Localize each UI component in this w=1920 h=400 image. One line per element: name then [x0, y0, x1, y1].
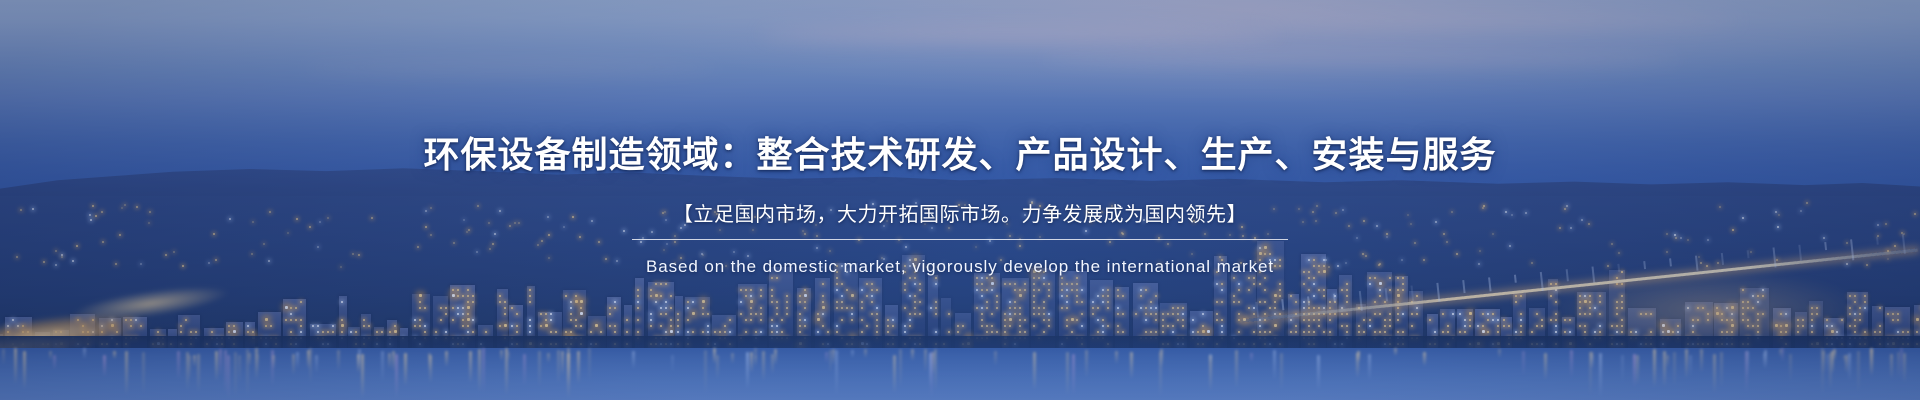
banner-english-tagline: Based on the domestic market, vigorously… — [646, 257, 1274, 277]
banner-headline: 环保设备制造领域：整合技术研发、产品设计、生产、安装与服务 — [423, 126, 1496, 178]
hero-banner: 环保设备制造领域：整合技术研发、产品设计、生产、安装与服务 【立足国内市场，大力… — [0, 0, 1920, 400]
banner-divider — [632, 239, 1288, 240]
banner-subheadline: 【立足国内市场，大力开拓国际市场。力争发展成为国内领先】 — [673, 198, 1247, 227]
banner-text-overlay: 环保设备制造领域：整合技术研发、产品设计、生产、安装与服务 【立足国内市场，大力… — [0, 0, 1920, 400]
